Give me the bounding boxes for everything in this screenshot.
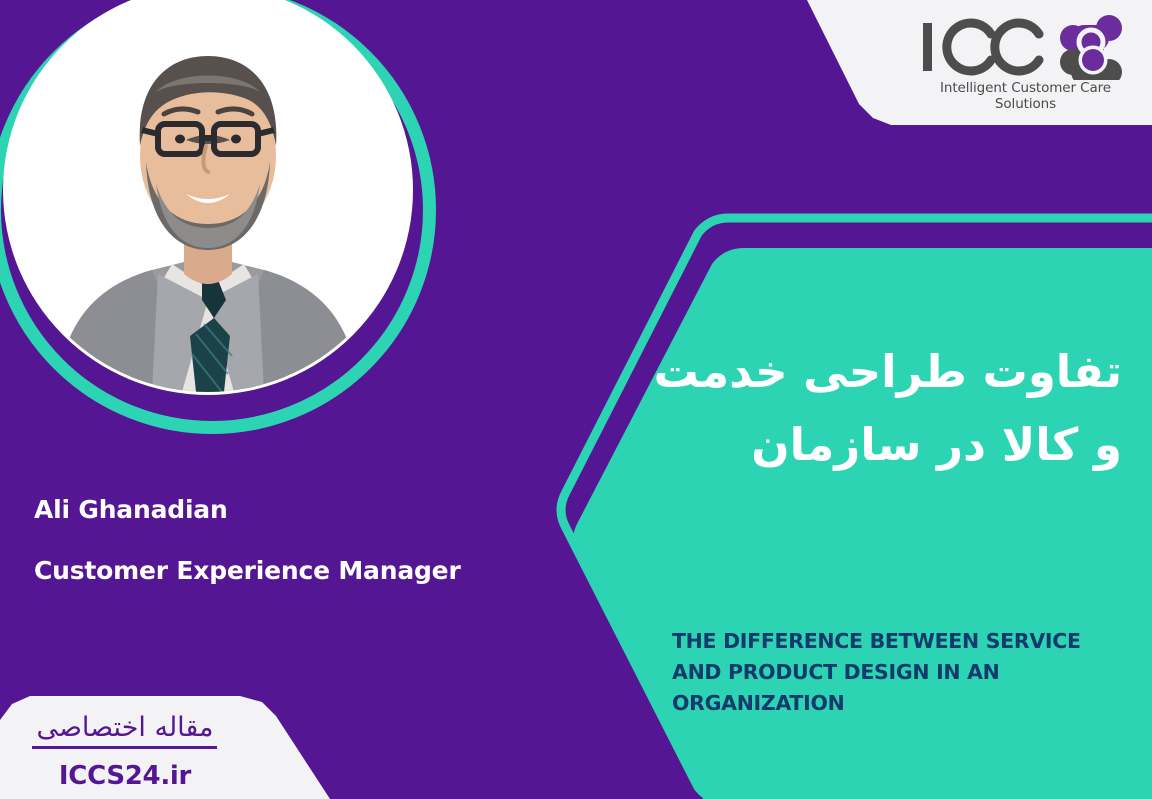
article-title-fa-line2: و کالا در سازمان bbox=[652, 409, 1122, 482]
speaker-info: Ali Ghanadian Customer Experience Manage… bbox=[34, 497, 504, 583]
tag-divider bbox=[32, 746, 217, 749]
portrait-photo bbox=[6, 0, 410, 392]
article-title-fa-line1: تفاوت طراحی خدمت bbox=[652, 336, 1122, 409]
iccs-wordmark-icon bbox=[913, 14, 1138, 80]
article-title-en: THE DIFFERENCE BETWEEN SERVICE AND PRODU… bbox=[672, 626, 1120, 719]
exclusive-article-label: مقاله اختصاصی bbox=[0, 712, 250, 743]
speaker-role: Customer Experience Manager bbox=[34, 558, 504, 583]
speaker-portrait bbox=[0, 0, 436, 434]
iccs-logo[interactable]: Intelligent Customer Care Solutions bbox=[913, 14, 1138, 110]
speaker-name: Ali Ghanadian bbox=[34, 497, 504, 522]
s-molecule-icon bbox=[1060, 15, 1122, 80]
logo-tagline: Intelligent Customer Care Solutions bbox=[913, 80, 1138, 112]
website-link[interactable]: ICCS24.ir bbox=[0, 761, 250, 791]
article-title-fa: تفاوت طراحی خدمت و کالا در سازمان bbox=[652, 336, 1122, 482]
slide-canvas: Ali Ghanadian Customer Experience Manage… bbox=[0, 0, 1152, 799]
